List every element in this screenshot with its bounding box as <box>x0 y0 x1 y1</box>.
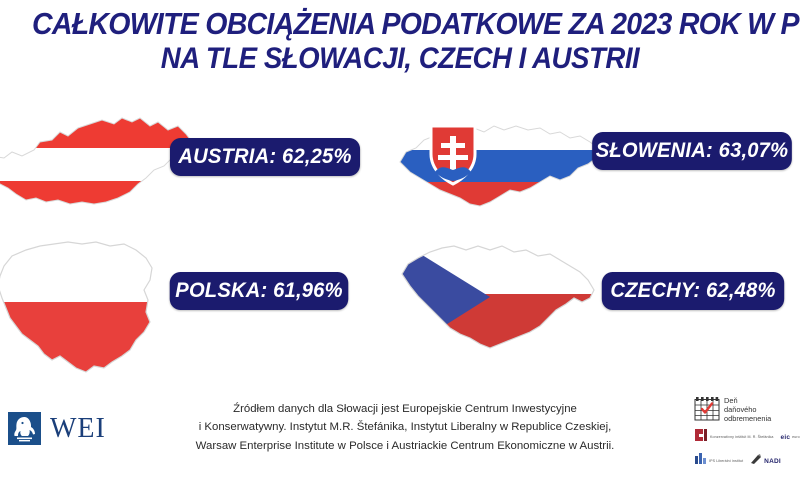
country-badge-slovenia: SŁOWENIA: 63,07% <box>592 132 792 170</box>
page-title: CAŁKOWITE OBCIĄŻENIA PODATKOWE ZA 2023 R… <box>0 8 800 74</box>
ips-caption: IPS Liberální institut <box>709 459 743 463</box>
country-badge-polska: POLSKA: 61,96% <box>170 272 349 310</box>
wei-eagle-emblem-icon <box>8 412 41 445</box>
source-note: Źródłem danych dla Słowacji jest Europej… <box>150 400 660 455</box>
country-badge-czechy: CZECHY: 62,48% <box>602 272 784 310</box>
country-badge-austria: AUSTRIA: 62,25% <box>170 138 360 176</box>
ips-liberalni-institut-logo: IPS Liberální institut <box>694 452 743 470</box>
partner-main-line-3: odbremenenia <box>724 414 771 423</box>
title-line-1: CAŁKOWITE OBCIĄŻENIA PODATKOWE ZA 2023 R… <box>32 8 768 40</box>
partner-mini-row-1: Konzervatívny inštitút M. R. Štefánika e… <box>694 428 798 447</box>
source-line-2: i Konserwatywny. Instytut M.R. Štefánika… <box>150 418 660 436</box>
konzervativny-caption: Konzervatívny inštitút M. R. Štefánika <box>710 435 774 439</box>
austria-map <box>0 112 197 217</box>
konzervativny-mark-icon <box>694 428 708 447</box>
infographic-canvas: CAŁKOWITE OBCIĄŻENIA PODATKOWE ZA 2023 R… <box>0 0 800 480</box>
eic-caption: european investment centre <box>792 435 800 439</box>
partner-main-line-2: daňového <box>724 405 756 414</box>
czech-map <box>398 240 603 355</box>
partner-mini-row-2: IPS Liberální institut NADI <box>694 452 798 470</box>
den-danoveho-odbremenenia-logo: Deň daňového odbremenenia <box>694 396 798 423</box>
partner-logo-cluster: Deň daňového odbremenenia Konzervatívny … <box>694 396 798 478</box>
slovakia-map <box>398 118 603 213</box>
ips-mark-icon <box>694 452 707 470</box>
wei-logo-text: WEI <box>50 415 106 443</box>
nadi-wordmark: NADI <box>764 458 781 465</box>
poland-map <box>0 238 177 383</box>
calendar-check-icon <box>694 396 720 421</box>
title-line-2: NA TLE SŁOWACJI, CZECH I AUSTRII <box>32 44 768 75</box>
partner-main-label: Deň daňového odbremenenia <box>724 396 771 423</box>
wei-logo: WEI <box>8 412 106 445</box>
nadi-mark-icon <box>750 452 762 470</box>
eic-wordmark: eic <box>781 434 791 441</box>
nadi-logo: NADI <box>750 452 781 470</box>
eic-logo: eic european investment centre <box>781 434 800 441</box>
konzervativny-institut-logo: Konzervatívny inštitút M. R. Štefánika <box>694 428 774 447</box>
source-line-1: Źródłem danych dla Słowacji jest Europej… <box>150 400 660 418</box>
partner-main-line-1: Deň <box>724 396 738 405</box>
source-line-3: Warsaw Enterprise Institute w Polsce i A… <box>150 437 660 455</box>
